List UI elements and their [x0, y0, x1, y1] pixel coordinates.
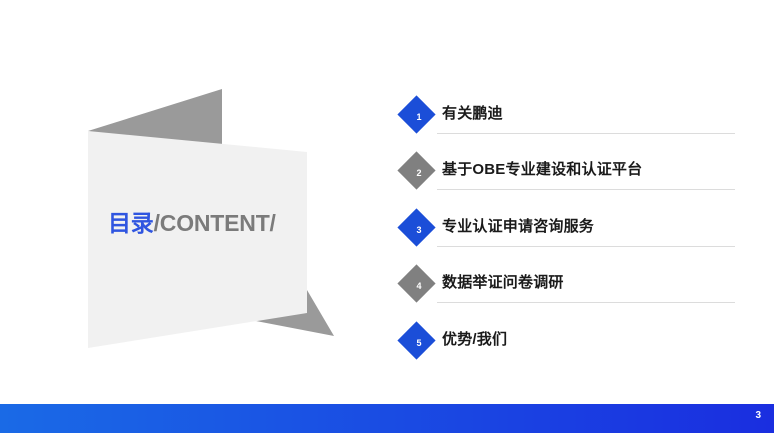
content-list-divider [437, 189, 735, 190]
content-list-item-4[interactable]: 4 数据举证问卷调研 [398, 257, 748, 313]
slide-canvas: 目录/CONTENT/ 1 有关鹏迪 2 基于OBE专业建设和认证平台 [0, 0, 774, 433]
diamond-marker-4: 4 [398, 265, 440, 307]
content-list-item-label: 有关鹏迪 [442, 102, 503, 123]
page-title-zh: 目录 [108, 210, 154, 236]
content-list-item-label: 优势/我们 [442, 328, 507, 349]
diamond-marker-3: 3 [398, 209, 440, 251]
content-ribbon-graphic [0, 0, 400, 400]
ribbon-fold-bottom [230, 290, 334, 336]
content-list-item-3[interactable]: 3 专业认证申请咨询服务 [398, 201, 748, 257]
ribbon-fold-top [88, 89, 222, 162]
footer-bar: 3 [0, 404, 774, 433]
content-list-item-label: 数据举证问卷调研 [442, 271, 564, 292]
page-title: 目录/CONTENT/ [108, 212, 276, 235]
page-number: 3 [755, 411, 761, 421]
content-list-item-5[interactable]: 5 优势/我们 [398, 314, 748, 370]
diamond-number: 3 [398, 209, 440, 251]
content-list-item-label: 基于OBE专业建设和认证平台 [442, 158, 642, 179]
content-list-divider [437, 302, 735, 303]
content-list-item-label: 专业认证申请咨询服务 [442, 215, 594, 236]
content-list-item-2[interactable]: 2 基于OBE专业建设和认证平台 [398, 144, 748, 200]
diamond-number: 2 [398, 152, 440, 194]
diamond-marker-1: 1 [398, 96, 440, 138]
content-list-divider [437, 246, 735, 247]
diamond-number: 4 [398, 265, 440, 307]
diamond-number: 1 [398, 96, 440, 138]
ribbon-main-panel [88, 131, 307, 348]
diamond-number: 5 [398, 322, 440, 364]
content-list-divider [437, 133, 735, 134]
diamond-marker-5: 5 [398, 322, 440, 364]
diamond-marker-2: 2 [398, 152, 440, 194]
page-title-en: /CONTENT/ [154, 210, 276, 236]
content-list-item-1[interactable]: 1 有关鹏迪 [398, 88, 748, 144]
